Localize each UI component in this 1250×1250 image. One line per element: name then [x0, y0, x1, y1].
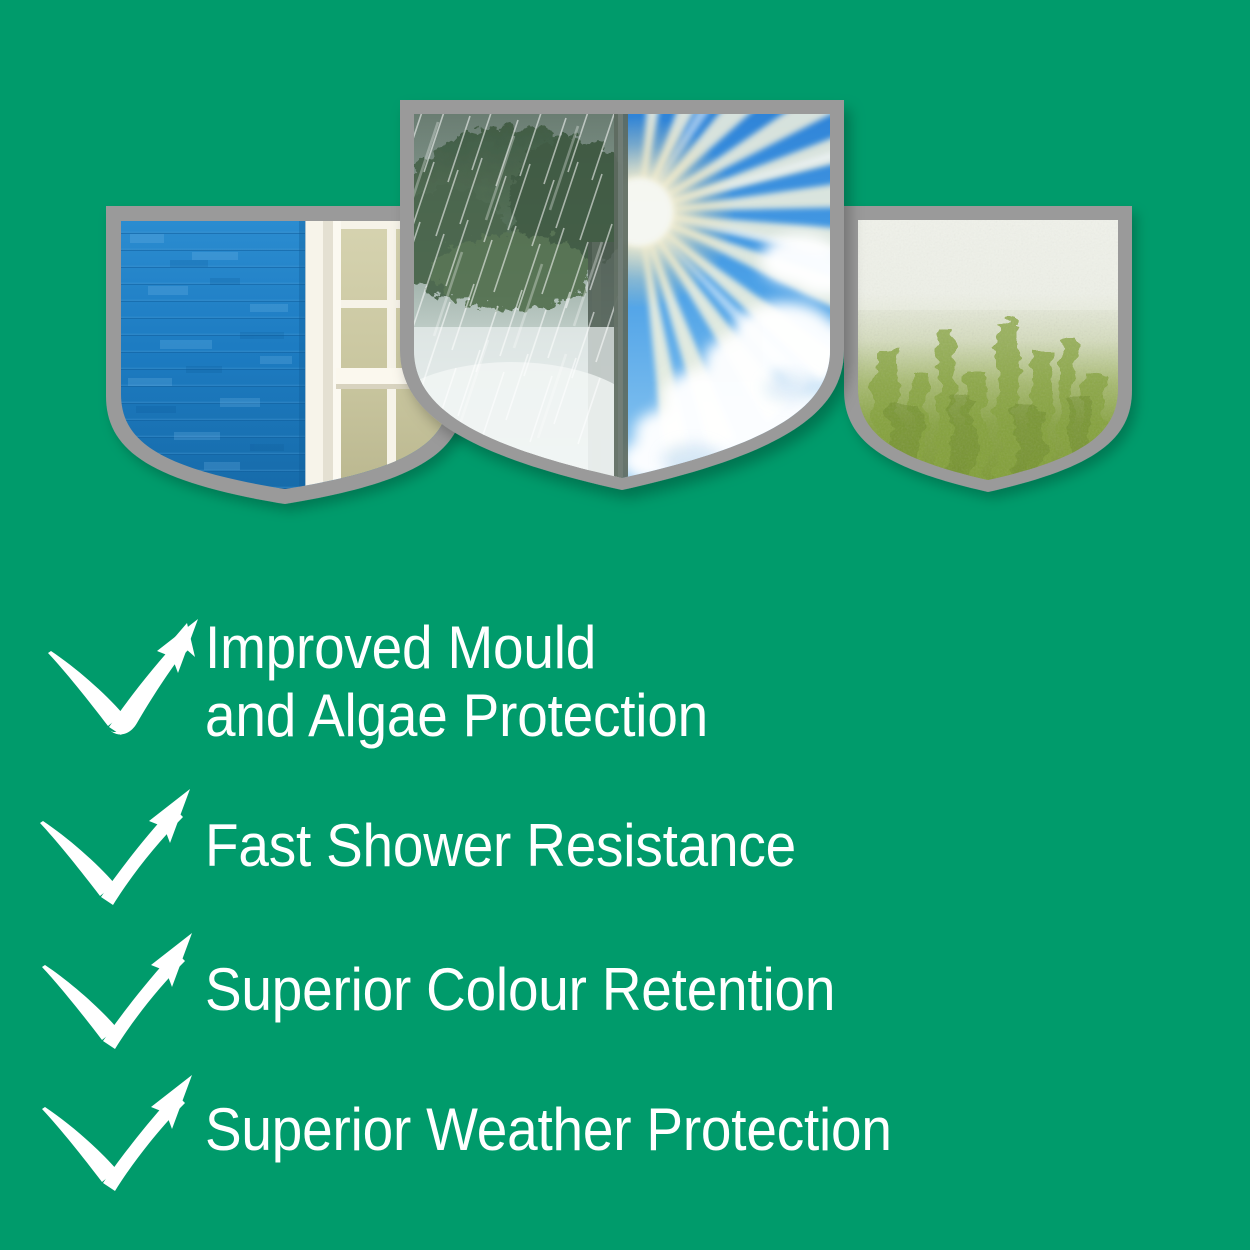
shield-image-right: [858, 220, 1118, 482]
feature-item: Superior Weather Protection: [0, 1060, 1250, 1200]
feature-item: Improved Mould and Algae Protection: [0, 596, 1250, 772]
feature-item: Fast Shower Resistance: [0, 772, 1250, 920]
feature-list: Improved Mould and Algae Protection Fast…: [0, 596, 1250, 1200]
feature-label: Superior Weather Protection: [205, 1096, 892, 1164]
check-arrow-icon: [0, 783, 203, 913]
promo-poster: Improved Mould and Algae Protection Fast…: [0, 0, 1250, 1250]
check-arrow-icon: [6, 613, 211, 743]
feature-label: Improved Mould and Algae Protection: [205, 614, 708, 750]
shield-illustration-group: [0, 0, 1250, 560]
rain-half: [372, 104, 652, 502]
feature-label: Fast Shower Resistance: [205, 812, 796, 880]
feature-item: Superior Colour Retention: [0, 920, 1250, 1060]
check-arrow-icon: [0, 927, 205, 1057]
shield-image-centre: [372, 24, 891, 502]
feature-label: Superior Colour Retention: [205, 956, 835, 1024]
shield-algae-wall: [838, 200, 1138, 500]
shield-rain-and-sun: [392, 92, 852, 502]
check-arrow-icon: [0, 1069, 205, 1199]
